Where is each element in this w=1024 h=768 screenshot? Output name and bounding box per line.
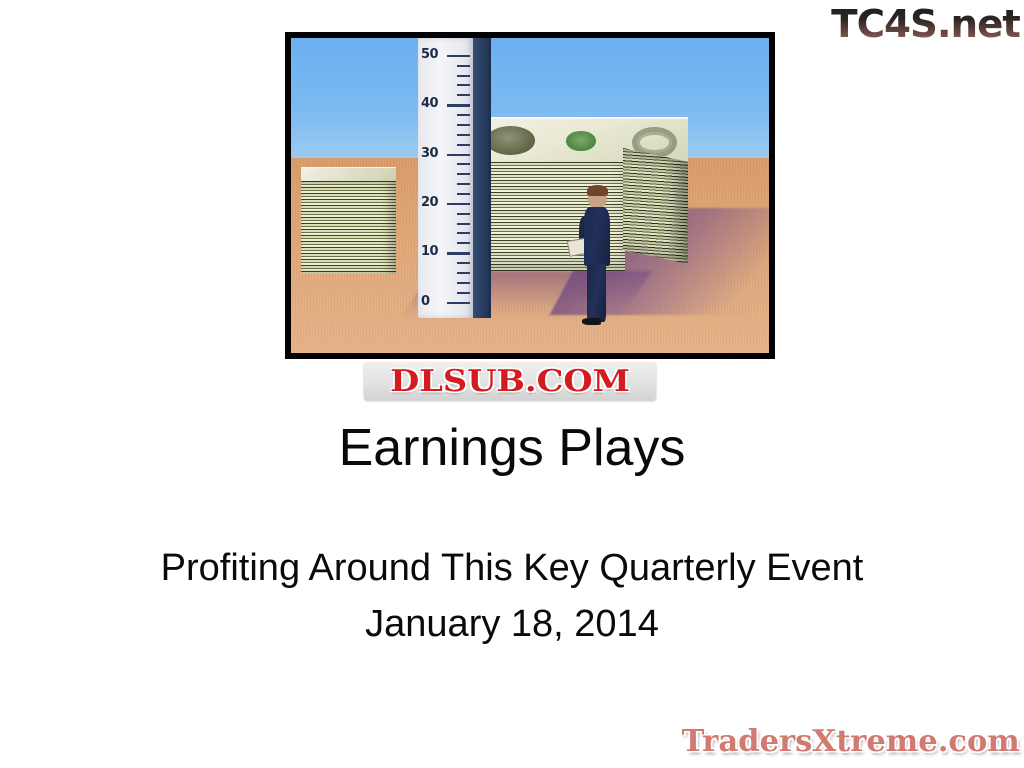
ruler-tick-major bbox=[447, 104, 470, 107]
ruler-tick-major bbox=[447, 154, 470, 157]
illustration-frame: 50403020100 bbox=[285, 32, 775, 359]
ruler-tick-minor bbox=[457, 94, 470, 96]
businessman-hair bbox=[587, 185, 609, 196]
dlsub-watermark[interactable]: DLSUB.COM bbox=[364, 362, 656, 400]
ruler-tick-major bbox=[447, 252, 470, 255]
measuring-ruler: 50403020100 bbox=[418, 38, 473, 318]
ruler-tick-label: 40 bbox=[421, 96, 438, 111]
ruler-tick-minor bbox=[457, 232, 470, 234]
ruler-tick-minor bbox=[457, 65, 470, 67]
ruler-tick-minor bbox=[457, 124, 470, 126]
businessman-shoe bbox=[582, 318, 601, 325]
ruler-tick-major bbox=[447, 203, 470, 206]
ruler-ticks: 50403020100 bbox=[418, 38, 473, 318]
slide-canvas: TC4S.net bbox=[0, 0, 1024, 768]
ruler-tick-minor bbox=[457, 292, 470, 294]
subtitle-line-description: Profiting Around This Key Quarterly Even… bbox=[0, 540, 1024, 596]
ruler-tick-minor bbox=[457, 282, 470, 284]
businessman-torso bbox=[584, 207, 611, 267]
businessman-figure bbox=[580, 186, 616, 325]
treasury-seal-icon bbox=[566, 131, 595, 151]
ruler-tick-minor bbox=[457, 144, 470, 146]
page-title: Earnings Plays bbox=[0, 418, 1024, 478]
ruler-tick-label: 30 bbox=[421, 146, 438, 161]
ruler-tick-major bbox=[447, 302, 470, 305]
ruler-tick-label: 20 bbox=[421, 195, 438, 210]
businessman-legs bbox=[587, 264, 606, 322]
tradersxtreme-logo[interactable]: TradersXtreme.com bbox=[681, 724, 1019, 760]
ruler-tick-minor bbox=[457, 223, 470, 225]
ruler-tick-minor bbox=[457, 163, 470, 165]
ruler-tick-minor bbox=[457, 272, 470, 274]
dlsub-watermark-text: DLSUB.COM bbox=[390, 364, 630, 399]
ruler-tick-minor bbox=[457, 193, 470, 195]
ruler-tick-label: 0 bbox=[421, 294, 430, 309]
ruler-tick-minor bbox=[457, 114, 470, 116]
money-stack-large-right bbox=[623, 148, 688, 264]
money-stack-small bbox=[301, 167, 397, 274]
ruler-tick-minor bbox=[457, 173, 470, 175]
ruler-tick-minor bbox=[457, 213, 470, 215]
portrait-oval-icon bbox=[486, 126, 535, 155]
ruler-tick-minor bbox=[457, 75, 470, 77]
ruler-tick-label: 50 bbox=[421, 47, 438, 62]
ruler-tick-minor bbox=[457, 84, 470, 86]
illustration-artwork: 50403020100 bbox=[291, 38, 769, 353]
ruler-tick-minor bbox=[457, 242, 470, 244]
ruler-post bbox=[470, 38, 491, 318]
ruler-tick-label: 10 bbox=[421, 244, 438, 259]
ruler-tick-major bbox=[447, 55, 470, 58]
ruler-tick-minor bbox=[457, 183, 470, 185]
ruler-tick-minor bbox=[457, 262, 470, 264]
subtitle-line-date: January 18, 2014 bbox=[0, 596, 1024, 652]
tc4s-logo[interactable]: TC4S.net bbox=[831, 2, 1020, 46]
money-stack-small-side bbox=[301, 181, 397, 274]
ruler-tick-minor bbox=[457, 134, 470, 136]
subtitle-block: Profiting Around This Key Quarterly Even… bbox=[0, 540, 1024, 652]
